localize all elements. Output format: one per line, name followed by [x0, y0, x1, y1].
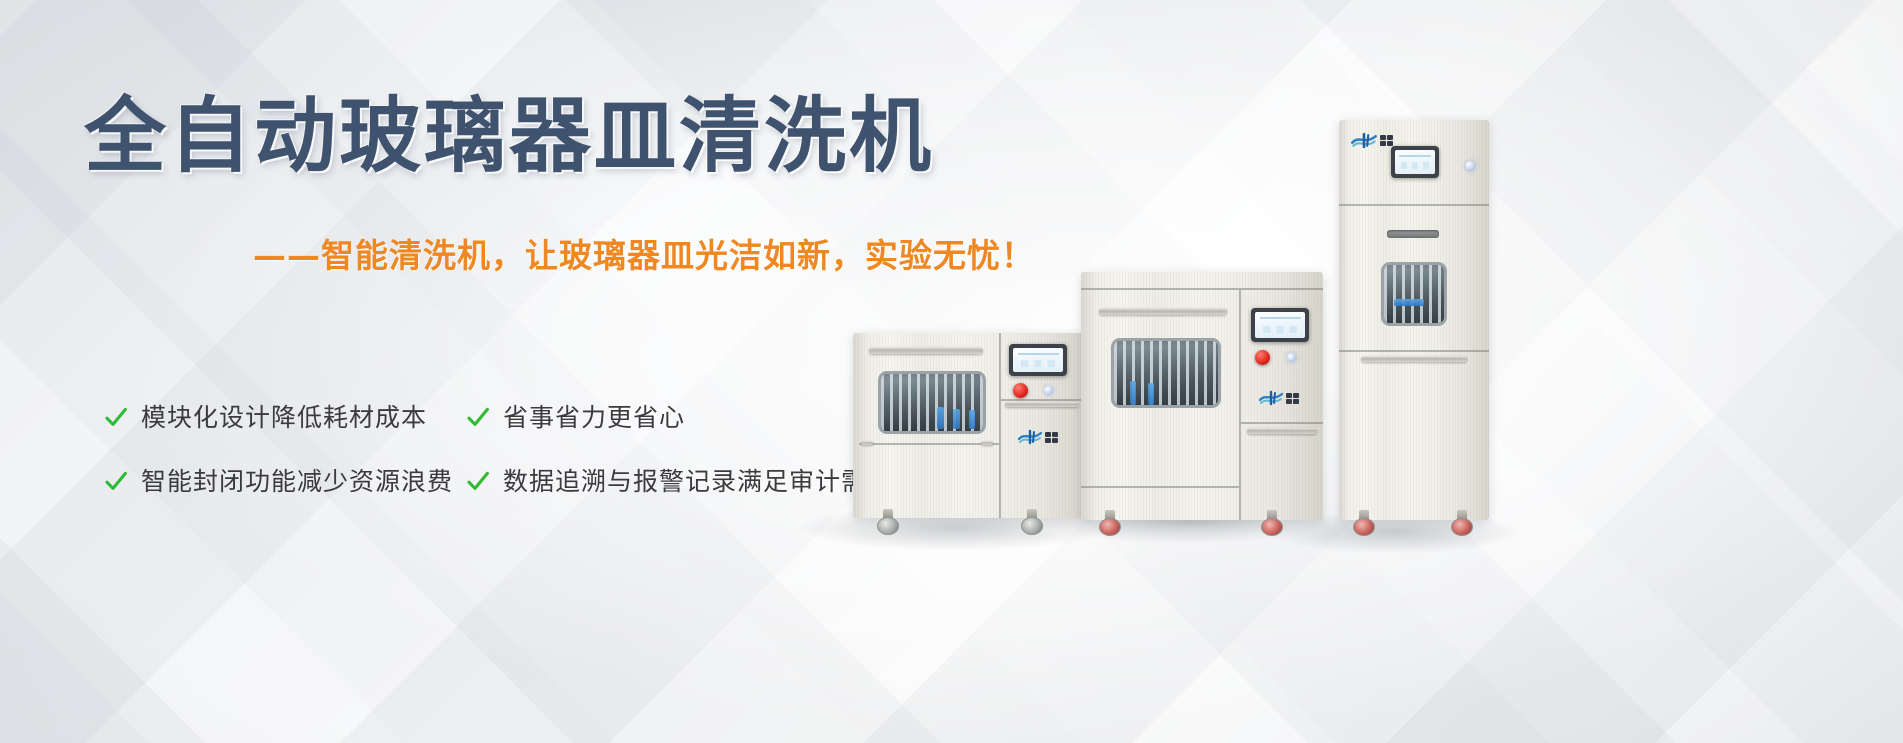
door-handle[interactable]	[1099, 308, 1227, 315]
panel-seam	[859, 443, 999, 445]
feature-item-1: 模块化设计降低耗材成本	[104, 405, 466, 430]
emergency-stop-button[interactable]	[1255, 350, 1270, 365]
product-left-glassware-washer[interactable]	[853, 333, 1085, 518]
feature-list: 模块化设计降低耗材成本 省事省力更省心 智能封闭功能减少资源浪费 数据追溯与报警…	[104, 385, 974, 513]
feature-item-3: 智能封闭功能减少资源浪费	[104, 469, 466, 494]
vent-slot	[1387, 230, 1439, 238]
hmi-screen-content	[1013, 348, 1063, 372]
caster-wheel	[1353, 510, 1375, 536]
viewing-window	[1111, 338, 1221, 408]
glassware-load	[1384, 265, 1444, 323]
feature-label: 智能封闭功能减少资源浪费	[141, 469, 453, 494]
brand-logo	[1351, 132, 1393, 149]
h-mark-icon	[1018, 429, 1042, 445]
panel-seam	[1241, 422, 1323, 424]
feature-label: 模块化设计降低耗材成本	[141, 405, 427, 430]
brand-wordmark	[1045, 432, 1058, 443]
caster-wheel	[1021, 509, 1043, 535]
hmi-screen-content	[1255, 312, 1305, 338]
banner-subtitle: ——智能清洗机，让玻璃器皿光洁如新，实验无忧！	[253, 239, 1035, 272]
brand-wordmark	[1286, 393, 1299, 404]
blue-rack-part	[937, 407, 944, 429]
viewing-window	[1381, 262, 1447, 326]
h-mark-icon	[1351, 132, 1377, 149]
hmi-touchscreen[interactable]	[1391, 146, 1439, 178]
panel-seam	[999, 333, 1001, 518]
viewing-window	[878, 371, 986, 434]
status-led-indicator	[1465, 161, 1475, 171]
check-icon	[466, 405, 490, 429]
blue-rack-part	[1394, 299, 1424, 306]
panel-seam	[1081, 486, 1239, 488]
panel-seam	[1239, 290, 1241, 520]
lower-door-latch[interactable]	[861, 441, 873, 445]
caster-wheel	[1451, 510, 1473, 536]
status-led-indicator	[1287, 353, 1296, 362]
panel-seam	[1339, 350, 1489, 352]
panel-seam	[1339, 204, 1489, 206]
caster-wheel	[1099, 510, 1121, 536]
feature-label: 省事省力更省心	[503, 405, 685, 430]
blue-rack-part	[1148, 383, 1154, 405]
brand-logo	[1018, 429, 1058, 445]
door-handle[interactable]	[1361, 356, 1467, 362]
lower-door-latch[interactable]	[981, 441, 993, 445]
check-icon	[104, 469, 128, 493]
h-mark-icon	[1259, 390, 1283, 406]
status-led-indicator	[1044, 386, 1053, 395]
blue-rack-part	[1130, 381, 1136, 405]
door-handle[interactable]	[869, 347, 983, 354]
check-icon	[466, 469, 490, 493]
blue-rack-part	[953, 409, 960, 429]
check-icon	[104, 405, 128, 429]
blue-rack-part	[969, 410, 975, 429]
brand-logo	[1259, 390, 1299, 406]
emergency-stop-button[interactable]	[1013, 383, 1028, 398]
panel-seam	[1081, 288, 1323, 290]
caster-wheel	[877, 509, 899, 535]
product-center-glassware-washer[interactable]	[1081, 272, 1323, 520]
brand-wordmark	[1380, 135, 1393, 146]
drawer-handle[interactable]	[1005, 402, 1079, 407]
panel-seam	[1001, 399, 1085, 401]
page-title: 全自动玻璃器皿清洗机	[84, 96, 934, 178]
drawer-handle[interactable]	[1247, 428, 1317, 434]
hmi-screen-content	[1395, 150, 1435, 174]
caster-wheel	[1261, 510, 1283, 536]
hmi-touchscreen[interactable]	[1009, 344, 1067, 376]
product-right-tall-glassware-washer[interactable]	[1339, 120, 1489, 520]
hmi-touchscreen[interactable]	[1251, 308, 1309, 342]
product-hero-banner: 全自动玻璃器皿清洗机 ——智能清洗机，让玻璃器皿光洁如新，实验无忧！ 模块化设计…	[0, 0, 1903, 743]
glassware-load	[881, 374, 983, 431]
feature-label: 数据追溯与报警记录满足审计需求	[503, 469, 893, 494]
